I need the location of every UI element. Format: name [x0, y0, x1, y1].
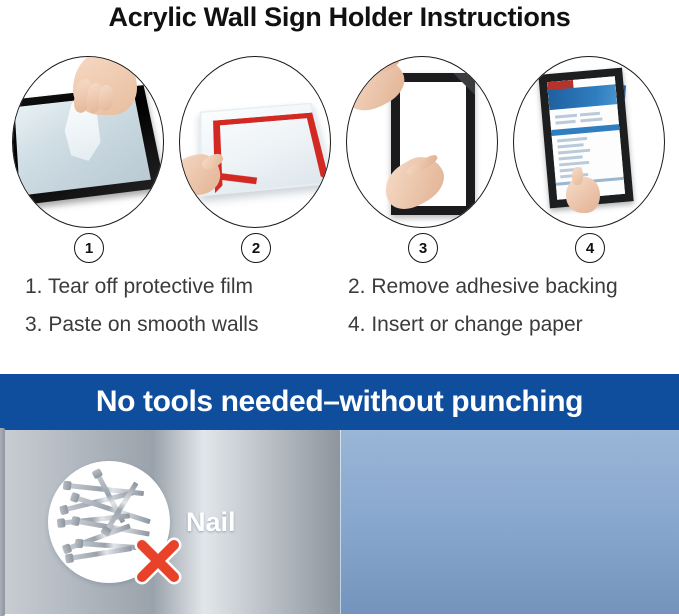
- insert-paper-icon: [514, 57, 664, 227]
- step-3: [346, 56, 498, 228]
- press-wall-icon: [347, 57, 497, 227]
- instructions-list: 1. Tear off protective film 2. Remove ad…: [0, 275, 679, 355]
- step-4: [513, 56, 665, 228]
- step-badge-4: 4: [575, 233, 605, 263]
- instruction-4: 4. Insert or change paper: [348, 313, 583, 337]
- step-badge-1: 1: [74, 233, 104, 263]
- red-x-icon: [130, 533, 186, 589]
- step-2: [179, 56, 331, 228]
- step-1-photo: [12, 56, 164, 228]
- instruction-3: 3. Paste on smooth walls: [25, 313, 258, 337]
- nail-icon: [48, 461, 170, 583]
- step-badge-3: 3: [408, 233, 438, 263]
- page-title: Acrylic Wall Sign Holder Instructions: [0, 2, 679, 33]
- banner-text: No tools needed–without punching: [96, 385, 583, 419]
- instruction-2: 2. Remove adhesive backing: [348, 275, 618, 299]
- step-3-photo: [346, 56, 498, 228]
- step-badges: 1 2 3 4: [0, 233, 679, 265]
- step-badge-2: 2: [241, 233, 271, 263]
- step-4-photo: [513, 56, 665, 228]
- steps-row: [0, 56, 679, 232]
- comparison-item-nail: Nail: [0, 430, 340, 614]
- instruction-1: 1. Tear off protective film: [25, 275, 253, 299]
- remove-adhesive-icon: [180, 57, 330, 227]
- step-1: [12, 56, 164, 228]
- peel-film-icon: [13, 57, 163, 227]
- nail-label: Nail: [186, 507, 236, 538]
- no-tools-banner: No tools needed–without punching: [0, 374, 679, 430]
- comparison-section: Hammer Nail: [0, 430, 679, 614]
- step-2-photo: [179, 56, 331, 228]
